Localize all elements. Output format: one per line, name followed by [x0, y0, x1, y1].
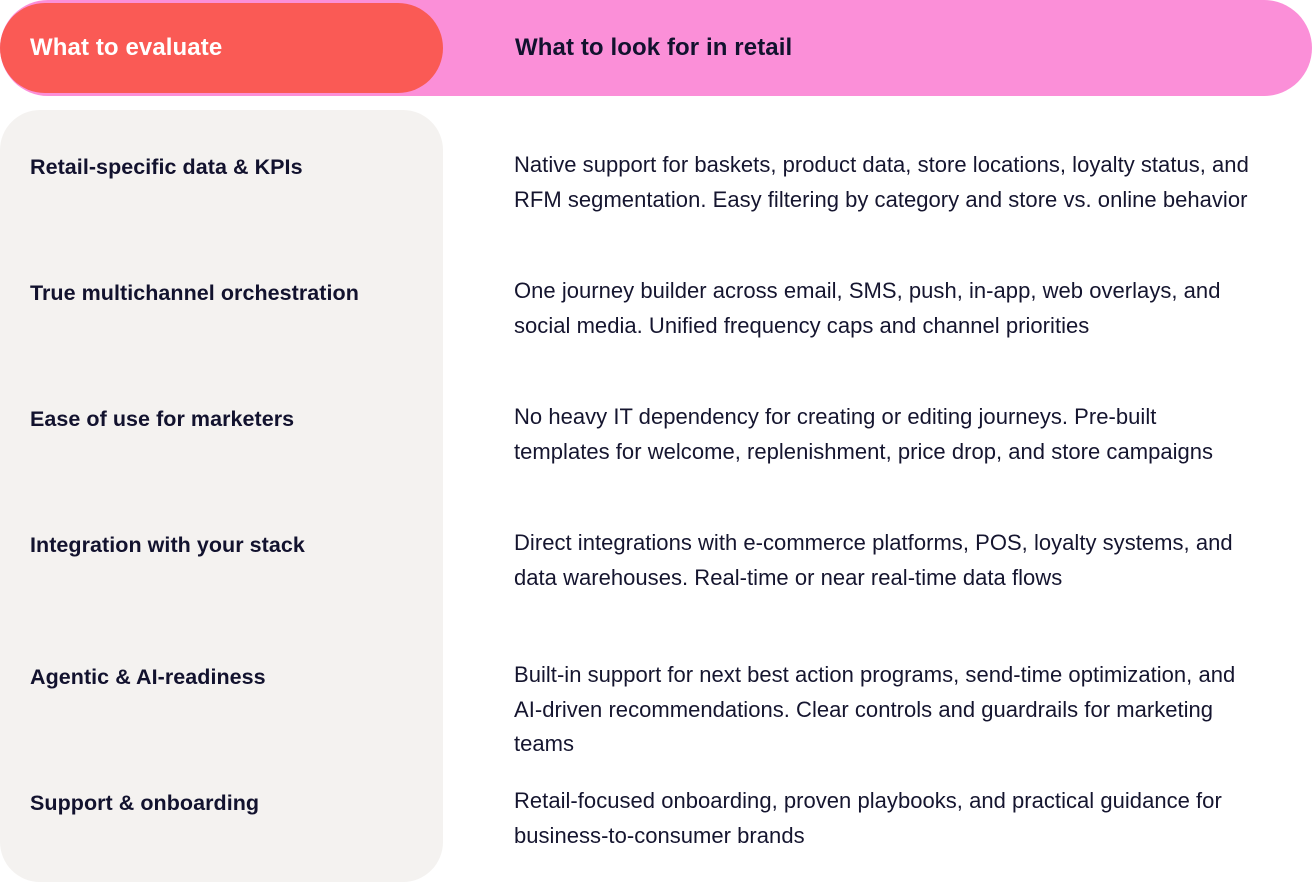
row-description: Direct integrations with e-commerce plat…: [514, 526, 1254, 595]
row-label: Agentic & AI-readiness: [30, 660, 420, 694]
header-cell-retail: What to look for in retail: [515, 0, 792, 96]
table-body: Retail-specific data & KPIsNative suppor…: [0, 110, 1312, 888]
row-description: Retail-focused onboarding, proven playbo…: [514, 784, 1254, 853]
row-description: No heavy IT dependency for creating or e…: [514, 400, 1254, 469]
row-description: Built-in support for next best action pr…: [514, 658, 1254, 762]
comparison-table: What to evaluate What to look for in ret…: [0, 0, 1312, 888]
left-column-panel: [0, 110, 443, 882]
row-description: Native support for baskets, product data…: [514, 148, 1254, 217]
row-label: Support & onboarding: [30, 786, 420, 820]
header-cell-evaluate: What to evaluate: [30, 0, 222, 96]
header-label-evaluate: What to evaluate: [30, 34, 222, 62]
row-description: One journey builder across email, SMS, p…: [514, 274, 1254, 343]
row-label: Retail-specific data & KPIs: [30, 150, 420, 184]
row-label: True multichannel orchestration: [30, 276, 420, 310]
row-label: Ease of use for marketers: [30, 402, 420, 436]
header-label-retail: What to look for in retail: [515, 34, 792, 62]
row-label: Integration with your stack: [30, 528, 420, 562]
